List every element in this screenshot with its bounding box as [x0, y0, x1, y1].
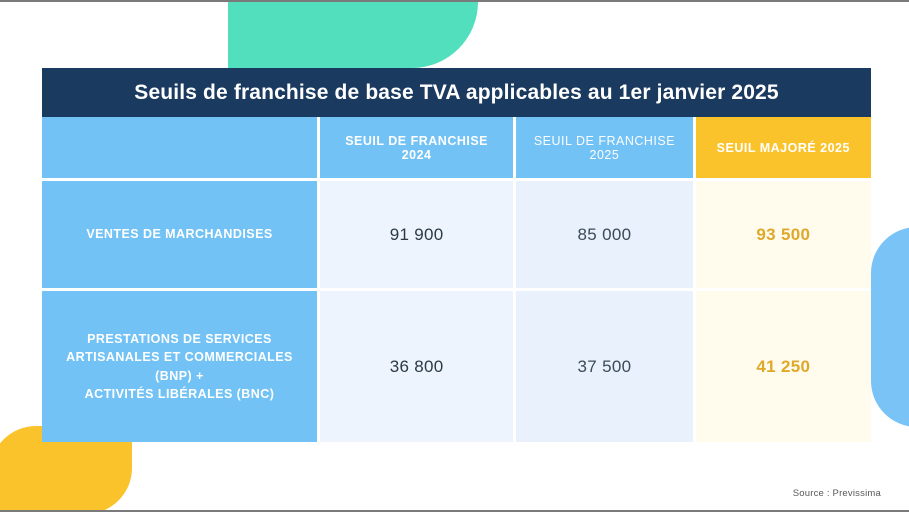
header-cell-seuil-franchise-2025: SEUIL DE FRANCHISE 2025 — [516, 117, 692, 178]
cell-prestations-seuil-majore-2025: 41 250 — [696, 291, 871, 442]
row-label-cell-ventes-de-marchandises: VENTES DE MARCHANDISES — [42, 181, 317, 288]
cell-prestations-seuil-2025: 37 500 — [516, 291, 692, 442]
value-text: 41 250 — [756, 357, 810, 377]
header-label-seuil-franchise-2025: SEUIL DE FRANCHISE 2025 — [526, 134, 682, 162]
table-header-row: SEUIL DE FRANCHISE 2024 SEUIL DE FRANCHI… — [42, 117, 871, 178]
cell-ventes-seuil-majore-2025: 93 500 — [696, 181, 871, 288]
value-text: 85 000 — [578, 225, 632, 245]
table-row: PRESTATIONS DE SERVICESARTISANALES ET CO… — [42, 291, 871, 442]
blue-decorative-shape-right — [871, 227, 909, 427]
row-label-cell-prestations-de-services: PRESTATIONS DE SERVICESARTISANALES ET CO… — [42, 291, 317, 442]
source-attribution: Source : Previssima — [793, 488, 881, 499]
page-title: Seuils de franchise de base TVA applicab… — [134, 81, 778, 105]
value-text: 36 800 — [390, 357, 444, 377]
header-cell-category — [42, 117, 317, 178]
header-cell-seuil-majore-2025: SEUIL MAJORÉ 2025 — [696, 117, 871, 178]
header-cell-seuil-franchise-2024: SEUIL DE FRANCHISE 2024 — [320, 117, 513, 178]
header-label-seuil-franchise-2024: SEUIL DE FRANCHISE 2024 — [330, 134, 503, 162]
infographic-canvas: Seuils de franchise de base TVA applicab… — [0, 0, 909, 512]
row-label-text: VENTES DE MARCHANDISES — [86, 225, 272, 243]
teal-decorative-shape — [228, 2, 478, 68]
value-text: 93 500 — [756, 225, 810, 245]
row-label-text: PRESTATIONS DE SERVICESARTISANALES ET CO… — [52, 330, 307, 403]
cell-ventes-seuil-2025: 85 000 — [516, 181, 692, 288]
cell-prestations-seuil-2024: 36 800 — [320, 291, 513, 442]
header-label-seuil-majore-2025: SEUIL MAJORÉ 2025 — [717, 141, 850, 155]
table-title-bar: Seuils de franchise de base TVA applicab… — [42, 68, 871, 117]
tva-threshold-table: Seuils de franchise de base TVA applicab… — [42, 68, 871, 442]
cell-ventes-seuil-2024: 91 900 — [320, 181, 513, 288]
value-text: 91 900 — [390, 225, 444, 245]
table-row: VENTES DE MARCHANDISES 91 900 85 000 93 … — [42, 181, 871, 288]
value-text: 37 500 — [578, 357, 632, 377]
